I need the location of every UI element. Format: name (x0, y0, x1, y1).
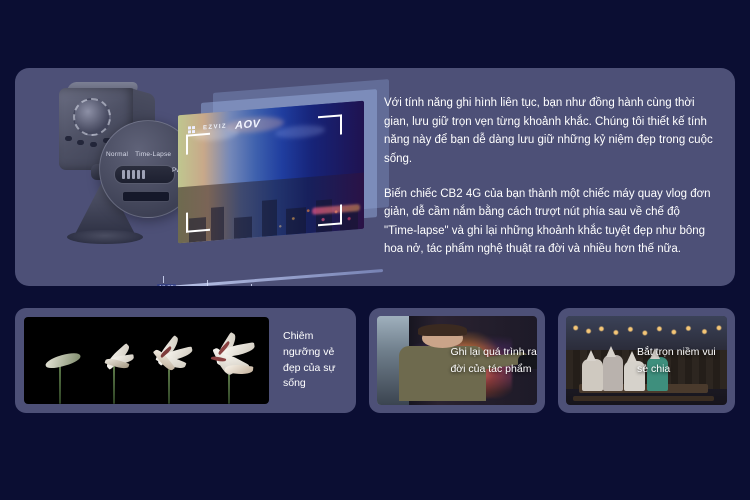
party-guest (582, 359, 603, 391)
camera-sensor-dot (65, 136, 72, 141)
feature-card-party[interactable]: Bắt trọn niềm vui sẻ chia (558, 308, 735, 413)
brand-name-label: EZVIZ (203, 123, 227, 131)
hero-panel: Normal Time-Lapse Pw (15, 68, 735, 286)
feature-card-row: Chiêm ngưỡng vẻ đẹp của sự sống Ghi lại … (15, 308, 735, 413)
flowers-caption: Chiêm ngưỡng vẻ đẹp của sự sống (283, 329, 347, 392)
lily-stage-1 (39, 317, 88, 404)
camera-sensor-dot (90, 142, 97, 147)
page-root: Normal Time-Lapse Pw (0, 0, 750, 500)
artist-hair (418, 324, 466, 336)
frame-front-cityscape: EZVIZ AOV (178, 101, 364, 244)
ezviz-logo-icon (188, 125, 195, 133)
picnic-bench (573, 396, 714, 401)
outdoor-party-image: Bắt trọn niềm vui sẻ chia (566, 316, 727, 405)
focus-corner-icon (186, 211, 210, 233)
camera-sensor-dot (77, 140, 84, 145)
flower-bloom-sequence-image (24, 317, 269, 404)
hero-copy: Với tính năng ghi hình liên tục, bạn như… (384, 94, 714, 275)
timelapse-frame-stack: EZVIZ AOV (165, 86, 395, 286)
lily-stage-2 (93, 317, 142, 404)
party-caption: Bắt trọn niềm vui sẻ chia (637, 344, 727, 378)
timeline-rail (155, 269, 383, 286)
camera-lens-icon (73, 98, 111, 136)
hero-paragraph-2: Biến chiếc CB2 4G của bạn thành một chiế… (384, 185, 714, 260)
focus-corner-icon (318, 204, 342, 226)
timeline-tick (251, 284, 252, 286)
hero-paragraph-1: Với tính năng ghi hình liên tục, bạn như… (384, 94, 714, 169)
usb-port-icon (122, 191, 170, 202)
focus-corner-icon (186, 133, 210, 155)
party-hat-icon (586, 350, 596, 361)
camera-base (67, 230, 143, 244)
timeline-time-label: 18:00 (157, 284, 176, 286)
feature-card-graffiti[interactable]: Ghi lại quá trình ra đời của tác phẩm (369, 308, 546, 413)
mode-label-normal: Normal (106, 151, 128, 158)
aov-badge-label: AOV (235, 118, 260, 132)
string-lights-icon (566, 321, 727, 344)
recording-timeline[interactable]: 18:00 19:00 20:00 21:00 22:00 23:00 Reco… (155, 264, 385, 286)
flowers-caption-wrap: Chiêm ngưỡng vẻ đẹp của sự sống (269, 317, 347, 404)
lily-stage-4 (205, 317, 264, 404)
timeline-tick (207, 280, 208, 286)
feature-card-flowers[interactable]: Chiêm ngưỡng vẻ đẹp của sự sống (15, 308, 356, 413)
focus-corner-icon (318, 114, 342, 136)
party-guest (603, 355, 622, 391)
lily-stage-3 (147, 317, 201, 404)
graffiti-caption: Ghi lại quá trình ra đời của tác phẩm (450, 344, 537, 378)
party-hat-icon (606, 346, 616, 357)
graffiti-artist-image: Ghi lại quá trình ra đời của tác phẩm (377, 316, 538, 405)
timeline-tick (163, 276, 164, 283)
party-hat-icon (627, 351, 637, 362)
